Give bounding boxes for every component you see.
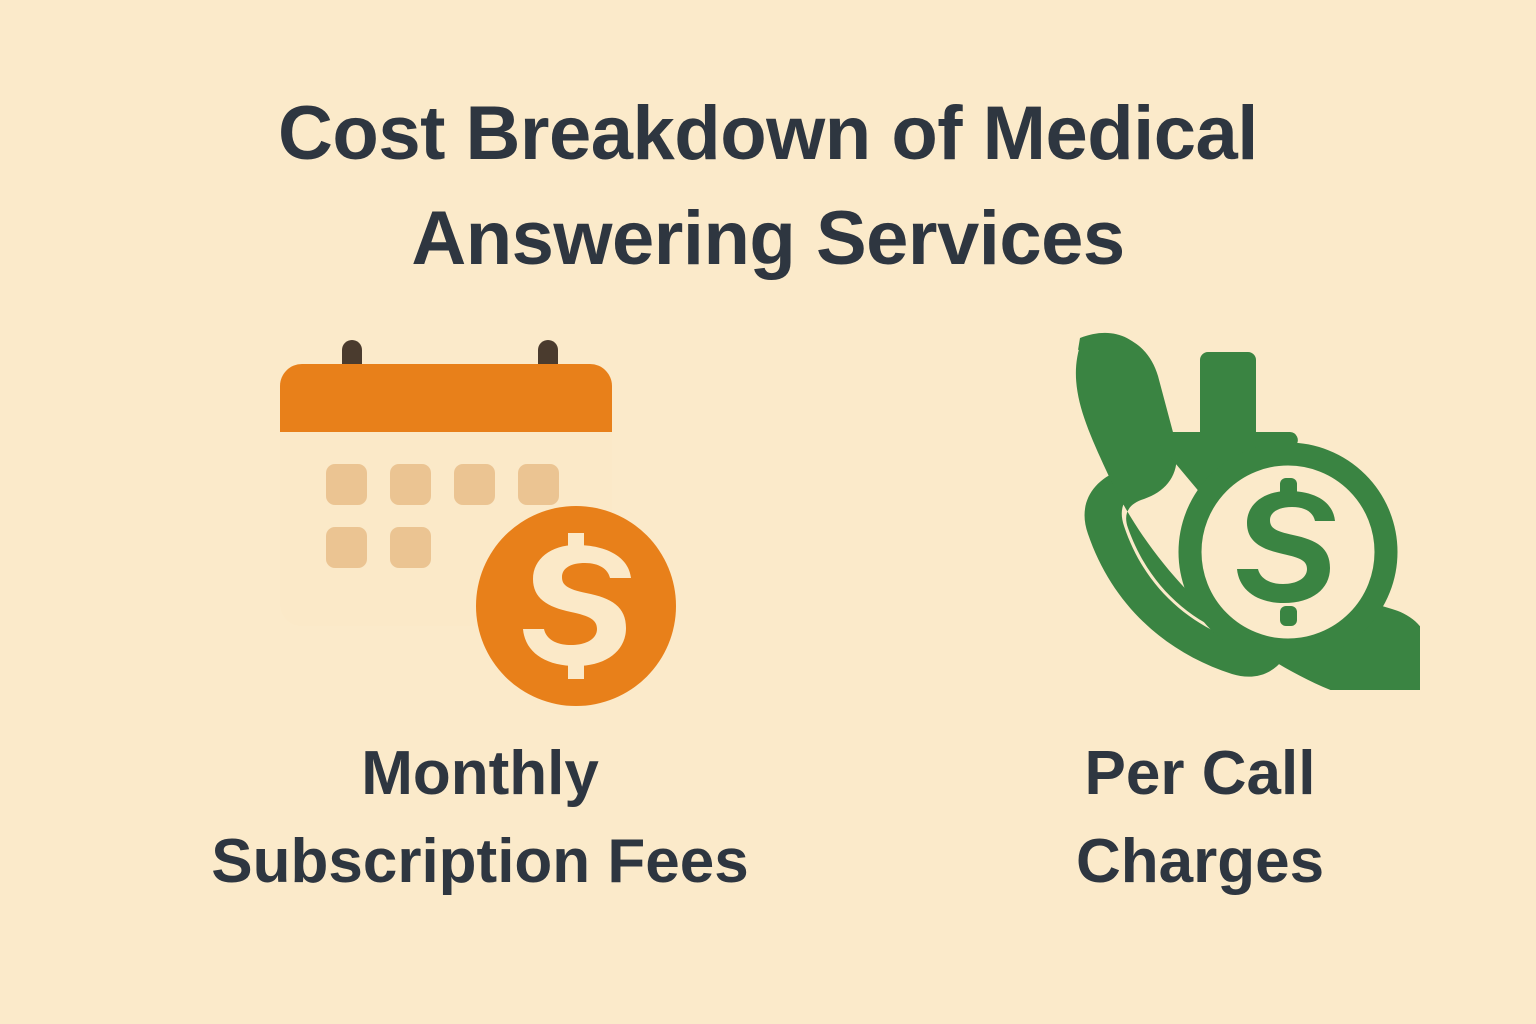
calendar-icon-wrap — [60, 320, 900, 720]
page-title-line-1: Cost Breakdown of Medical — [0, 82, 1536, 187]
calendar-header-bar — [280, 364, 612, 432]
calendar-day-cell — [326, 527, 367, 568]
calendar-day-cell — [390, 464, 431, 505]
cost-item-label-monthly: Monthly Subscription Fees — [60, 730, 900, 906]
label-line-1: Monthly — [60, 730, 900, 818]
cost-item-monthly-subscription-fees: Monthly Subscription Fees — [60, 320, 900, 940]
page-title-line-2: Answering Services — [0, 187, 1536, 292]
calendar-day-cell — [454, 464, 495, 505]
label-line-1: Per Call — [900, 730, 1500, 818]
infographic-canvas: Cost Breakdown of Medical Answering Serv… — [0, 0, 1536, 1024]
label-line-2: Charges — [900, 818, 1500, 906]
calendar-day-row — [326, 464, 576, 505]
cost-items-row: Monthly Subscription Fees — [0, 320, 1536, 940]
label-line-2: Subscription Fees — [60, 818, 900, 906]
dollar-circle-icon — [1190, 454, 1386, 650]
dollar-coin-icon — [476, 506, 676, 706]
phone-dollar-arrow-icon — [1020, 330, 1420, 690]
calendar-day-cell — [518, 464, 559, 505]
page-title: Cost Breakdown of Medical Answering Serv… — [0, 82, 1536, 292]
cost-item-label-per-call: Per Call Charges — [900, 730, 1500, 906]
calendar-dollar-icon — [280, 340, 620, 650]
calendar-day-cell — [390, 527, 431, 568]
cost-item-per-call-charges: Per Call Charges — [900, 320, 1500, 940]
phone-icon-wrap — [900, 320, 1500, 720]
calendar-day-cell — [326, 464, 367, 505]
